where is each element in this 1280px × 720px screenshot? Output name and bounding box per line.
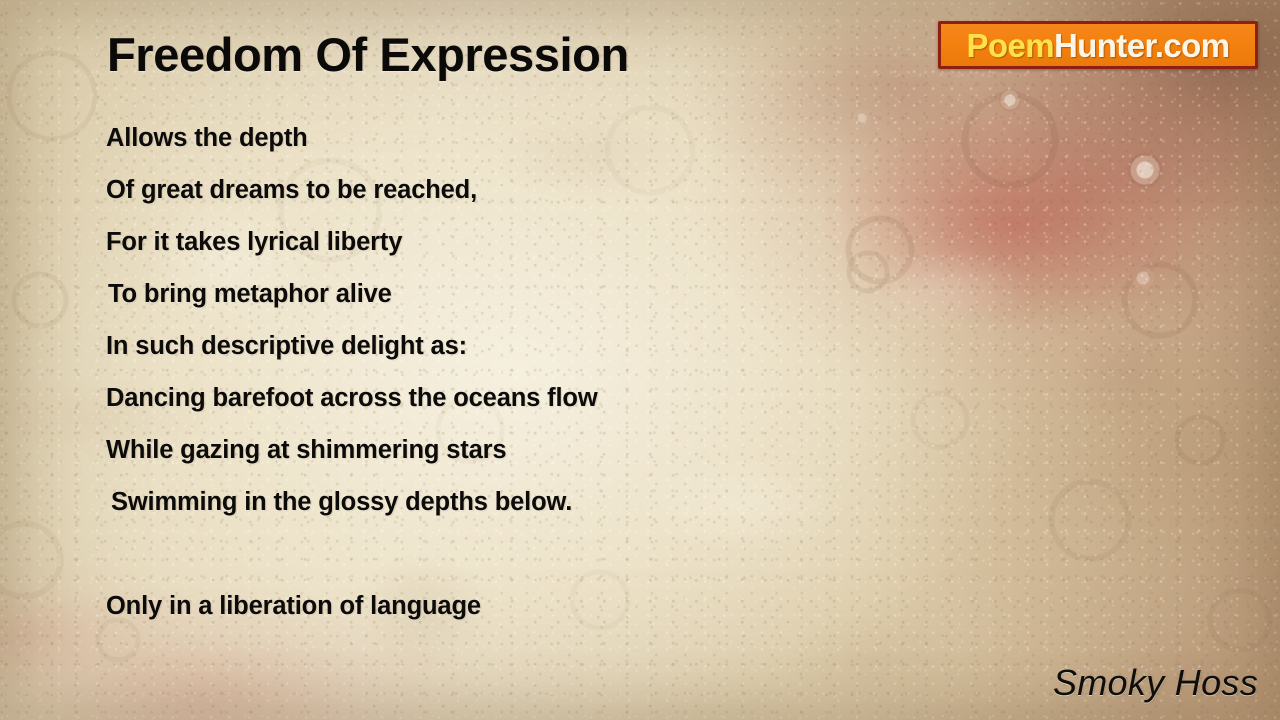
poem-line: Swimming in the glossy depths below.: [106, 476, 866, 528]
logo-text-poem: Poem: [966, 27, 1053, 64]
page-title: Freedom Of Expression: [107, 27, 629, 82]
poem-line: Of great dreams to be reached,: [106, 164, 866, 216]
poem-line: In such descriptive delight as:: [106, 320, 866, 372]
poem-line: Only in a liberation of language: [106, 580, 866, 632]
poem-line: For it takes lyrical liberty: [106, 216, 866, 268]
logo-text-hunter: Hunter.com: [1054, 27, 1230, 64]
poem-text-block: Allows the depth Of great dreams to be r…: [106, 112, 866, 632]
poem-content: Freedom Of Expression Allows the depth O…: [0, 0, 1280, 720]
poem-line-blank: [106, 528, 866, 580]
poem-line: Dancing barefoot across the oceans flow: [106, 372, 866, 424]
poem-line: Allows the depth: [106, 112, 866, 164]
author-name: Smoky Hoss: [1053, 662, 1258, 704]
poemhunter-logo[interactable]: PoemHunter.com: [938, 21, 1258, 69]
poem-image-card: Freedom Of Expression Allows the depth O…: [0, 0, 1280, 720]
poem-line: To bring metaphor alive: [106, 268, 866, 320]
poem-line: While gazing at shimmering stars: [106, 424, 866, 476]
poemhunter-logo-text: PoemHunter.com: [966, 29, 1229, 62]
